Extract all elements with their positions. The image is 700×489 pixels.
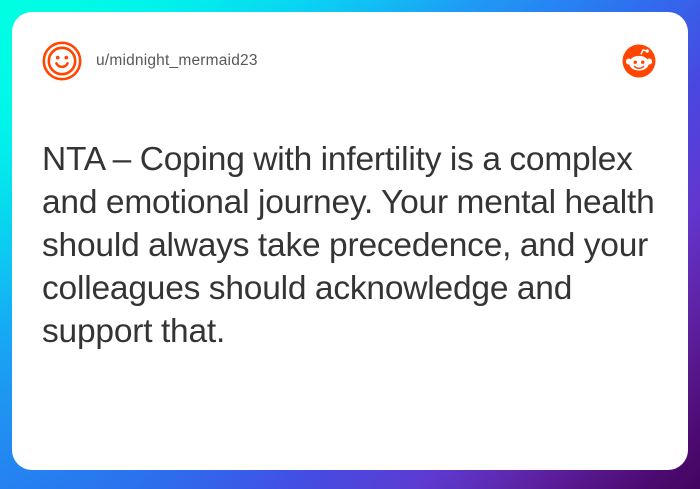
reddit-post-card: u/midnight_mermaid23	[12, 12, 688, 470]
avatar[interactable]	[42, 41, 82, 81]
screenshot-stage: u/midnight_mermaid23	[0, 0, 700, 489]
post-body-text: NTA – Coping with infertility is a compl…	[42, 138, 658, 353]
reddit-snoo-logo-icon	[622, 44, 656, 78]
post-author-username[interactable]: u/midnight_mermaid23	[96, 52, 258, 70]
post-card-header: u/midnight_mermaid23	[42, 38, 658, 84]
smiley-face-avatar-icon	[42, 41, 82, 81]
